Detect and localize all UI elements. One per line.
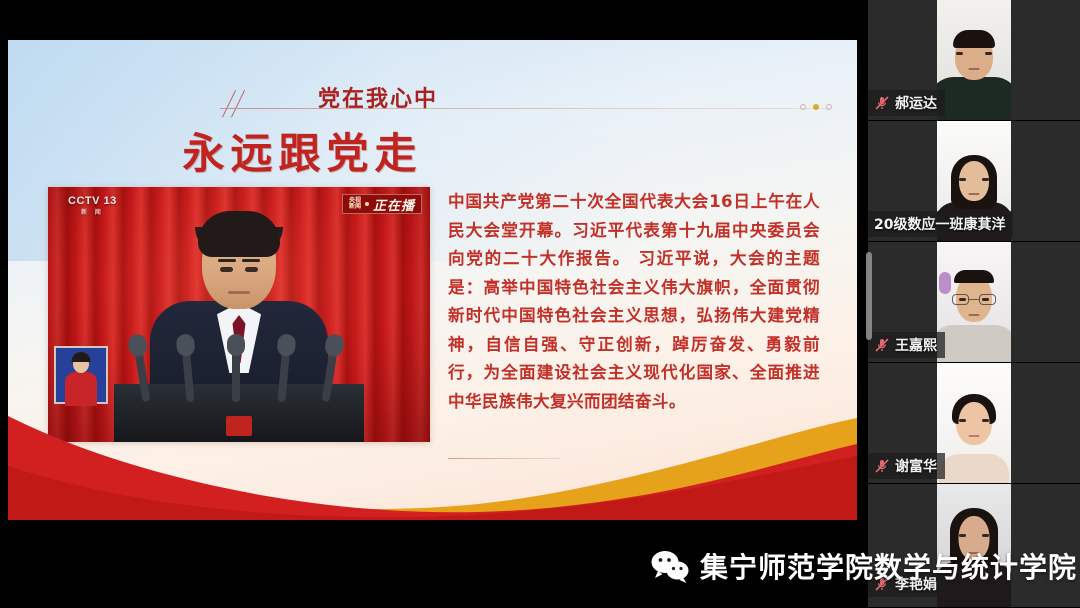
- cctv-logo-text: CCTV 13: [68, 195, 117, 207]
- sign-language-pip: [54, 346, 108, 404]
- mic-off-icon: [874, 576, 890, 592]
- mic-off-icon: [874, 95, 890, 111]
- slide-subtitle: 党在我心中: [318, 81, 438, 113]
- participant-name: 谢富华: [895, 456, 937, 476]
- rail-scrollbar-thumb[interactable]: [866, 252, 872, 340]
- participant-name-chip: 郝运达: [868, 90, 945, 116]
- participant-name: 郝运达: [895, 93, 937, 113]
- screen-root: 党在我心中 永远跟党走: [0, 0, 1080, 608]
- slide-main-title: 永远跟党走: [8, 120, 857, 181]
- title-divider-rule: [220, 108, 830, 109]
- pager-dots: [800, 104, 832, 110]
- participant-video: [937, 484, 1011, 608]
- live-badge-label: 正在播: [373, 195, 415, 214]
- shared-slide-stage[interactable]: 党在我心中 永远跟党走: [8, 40, 857, 520]
- participant-tile[interactable]: 谢富华: [868, 363, 1080, 484]
- live-badge-dot-icon: [365, 202, 369, 206]
- participant-tile[interactable]: 王嘉熙: [868, 242, 1080, 363]
- participant-name-chip: 谢富华: [868, 453, 945, 479]
- participant-tile[interactable]: 20级数应一班康萁洋: [868, 121, 1080, 242]
- participant-name-chip: 王嘉熙: [868, 332, 945, 358]
- participant-name-chip: 李艳娟: [868, 571, 945, 597]
- participant-name-chip: 20级数应一班康萁洋: [868, 211, 1013, 237]
- mic-off-icon: [874, 458, 890, 474]
- ribbon-decoration: [8, 400, 857, 520]
- pager-dot-3: [826, 104, 832, 110]
- slide-title-block: 党在我心中 永远跟党走: [8, 62, 857, 192]
- slide-body-text: 中国共产党第二十次全国代表大会16日上午在人民大会堂开幕。习近平代表第十九届中央…: [448, 188, 820, 416]
- participant-rail[interactable]: 郝运达 20级数应一班康萁洋: [868, 0, 1080, 608]
- live-badge-line2: 新闻: [349, 204, 361, 210]
- participant-video: [937, 363, 1011, 484]
- cctv-channel-logo: CCTV 13 新 闻: [68, 196, 117, 216]
- live-badge: 央视 新闻 正在播: [342, 194, 422, 214]
- participant-name: 20级数应一班康萁洋: [874, 214, 1005, 234]
- cctv-logo-subtext: 新 闻: [68, 210, 117, 216]
- pager-dot-1: [800, 104, 806, 110]
- mic-off-icon: [874, 337, 890, 353]
- participant-tile[interactable]: 郝运达: [868, 0, 1080, 121]
- participant-name: 王嘉熙: [895, 335, 937, 355]
- participant-video: [937, 0, 1011, 121]
- participant-name: 李艳娟: [895, 574, 937, 594]
- wechat-icon: [650, 549, 690, 583]
- participant-video: [937, 242, 1011, 363]
- participant-tile[interactable]: 李艳娟: [868, 484, 1080, 608]
- microphone-cluster: [124, 332, 354, 402]
- pager-dot-2-active: [813, 104, 819, 110]
